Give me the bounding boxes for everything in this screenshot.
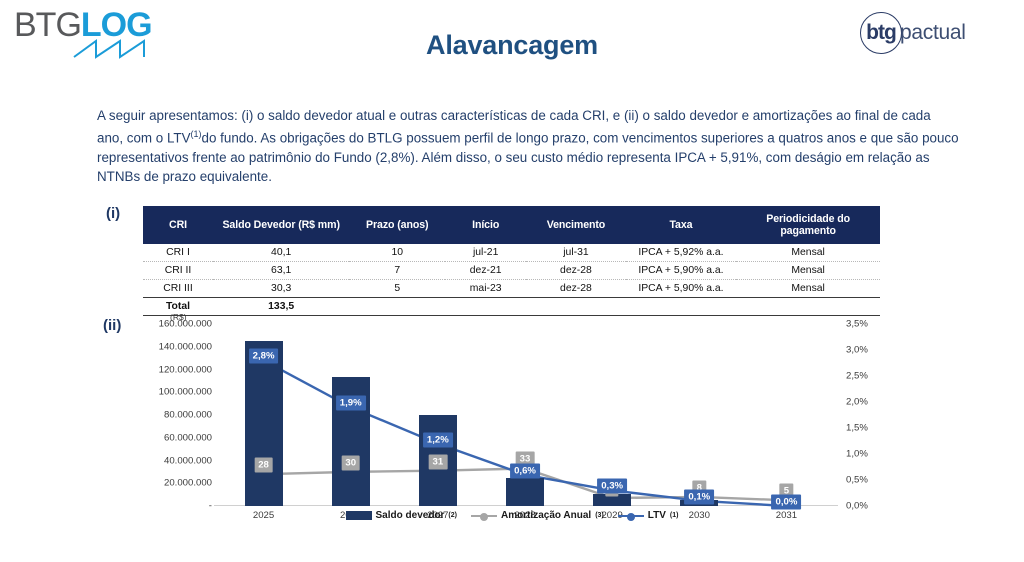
table-row: CRI III 30,3 5 mai-23 dez-28 IPCA + 5,90… <box>143 280 880 298</box>
y-axis-right-tick: 1,5% <box>846 423 868 434</box>
legend-label-ltv: LTV <box>648 510 666 521</box>
y-axis-left: -20.000.00040.000.00060.000.00080.000.00… <box>132 324 212 506</box>
legend-swatch-bar-icon <box>346 511 372 520</box>
cell-inicio: jul-21 <box>445 244 526 262</box>
intro-line-1: A seguir apresentamos: (i) o saldo deved… <box>97 108 879 123</box>
intro-footnote-ref-1: (1) <box>191 129 202 139</box>
col-header-saldo-devedor: Saldo Devedor (R$ mm) <box>213 206 349 244</box>
cell-saldo: 30,3 <box>213 280 349 298</box>
cell-vencimento: jul-31 <box>526 244 625 262</box>
ltv-data-label: 0,6% <box>510 463 540 478</box>
chart-legend: Saldo devedor(2) Amortização Anual(3) LT… <box>132 510 892 521</box>
chart-bar <box>506 478 544 506</box>
y-axis-left-tick: 120.000.000 <box>134 364 212 375</box>
col-header-vencimento: Vencimento <box>526 206 625 244</box>
cell-prazo: 10 <box>349 244 445 262</box>
table-row: CRI II 63,1 7 dez-21 dez-28 IPCA + 5,90%… <box>143 262 880 280</box>
amortizacao-data-label: 31 <box>429 454 448 469</box>
y-axis-right-tick: 3,0% <box>846 345 868 356</box>
page-title: Alavancagem <box>0 30 1024 61</box>
cell-periodicidade: Mensal <box>736 244 880 262</box>
col-header-prazo: Prazo (anos) <box>349 206 445 244</box>
y-axis-left-tick: 160.000.000 <box>134 319 212 330</box>
chart-plot-area: 2025202620272028202920302031283031337852… <box>220 324 830 506</box>
cell-taxa: IPCA + 5,90% a.a. <box>626 280 737 298</box>
table-header-row: CRI Saldo Devedor (R$ mm) Prazo (anos) I… <box>143 206 880 244</box>
cell-prazo: 5 <box>349 280 445 298</box>
amortizacao-data-label: 28 <box>254 458 273 473</box>
col-header-periodicidade: Periodicidade do pagamento <box>736 206 880 244</box>
cell-periodicidade: Mensal <box>736 280 880 298</box>
cri-table: CRI Saldo Devedor (R$ mm) Prazo (anos) I… <box>143 206 880 315</box>
y-axis-left-tick: 60.000.000 <box>134 432 212 443</box>
legend-swatch-line-ltv-icon <box>618 511 644 520</box>
y-axis-right-tick: 2,5% <box>846 371 868 382</box>
cri-table-wrapper: CRI Saldo Devedor (R$ mm) Prazo (anos) I… <box>143 206 880 316</box>
ltv-data-label: 1,2% <box>423 432 453 447</box>
amortizacao-data-label: 30 <box>341 455 360 470</box>
y-axis-right-tick: 0,5% <box>846 475 868 486</box>
legend-footnote-3: (3) <box>595 512 604 519</box>
legend-footnote-2: (2) <box>448 512 457 519</box>
y-axis-left-tick: 140.000.000 <box>134 341 212 352</box>
legend-footnote-1: (1) <box>670 512 679 519</box>
cell-saldo: 63,1 <box>213 262 349 280</box>
legend-item-amortizacao: Amortização Anual(3) <box>471 510 604 521</box>
y-axis-right: 0,0%0,5%1,0%1,5%2,0%2,5%3,0%3,5% <box>832 324 892 506</box>
cell-cri: CRI I <box>143 244 213 262</box>
cell-inicio: mai-23 <box>445 280 526 298</box>
cri-table-body: CRI I 40,1 10 jul-21 jul-31 IPCA + 5,92%… <box>143 244 880 315</box>
cell-cri: CRI II <box>143 262 213 280</box>
col-header-cri: CRI <box>143 206 213 244</box>
cri-table-head: CRI Saldo Devedor (R$ mm) Prazo (anos) I… <box>143 206 880 244</box>
cell-saldo: 40,1 <box>213 244 349 262</box>
y-axis-right-tick: 2,0% <box>846 397 868 408</box>
section-marker-i: (i) <box>106 205 120 222</box>
cell-vencimento: dez-28 <box>526 280 625 298</box>
cell-taxa: IPCA + 5,92% a.a. <box>626 244 737 262</box>
y-axis-left-tick: 20.000.000 <box>134 478 212 489</box>
ltv-data-label: 2,8% <box>249 349 279 364</box>
legend-label-amortizacao: Amortização Anual <box>501 510 591 521</box>
y-axis-left-tick: 80.000.000 <box>134 410 212 421</box>
legend-item-ltv: LTV(1) <box>618 510 679 521</box>
col-header-taxa: Taxa <box>626 206 737 244</box>
chart-bar <box>245 341 283 506</box>
cell-cri: CRI III <box>143 280 213 298</box>
section-marker-ii: (ii) <box>103 317 121 334</box>
cell-vencimento: dez-28 <box>526 262 625 280</box>
y-axis-right-tick: 3,5% <box>846 319 868 330</box>
intro-paragraph: A seguir apresentamos: (i) o saldo deved… <box>97 106 959 186</box>
table-row: CRI I 40,1 10 jul-21 jul-31 IPCA + 5,92%… <box>143 244 880 262</box>
ltv-data-label: 0,1% <box>684 489 714 504</box>
cell-taxa: IPCA + 5,90% a.a. <box>626 262 737 280</box>
ltv-data-label: 0,0% <box>771 495 801 510</box>
leverage-chart: (R$) -20.000.00040.000.00060.000.00080.0… <box>132 312 892 524</box>
cell-inicio: dez-21 <box>445 262 526 280</box>
cell-periodicidade: Mensal <box>736 262 880 280</box>
intro-line-2b: do fundo. As obrigações do BTLG possuem … <box>202 131 824 146</box>
y-axis-left-tick: 40.000.000 <box>134 455 212 466</box>
slide: BTGLOG btg pactual Alavancagem A seguir … <box>0 0 1024 562</box>
y-axis-left-tick: 100.000.000 <box>134 387 212 398</box>
ltv-data-label: 1,9% <box>336 396 366 411</box>
cell-prazo: 7 <box>349 262 445 280</box>
col-header-inicio: Início <box>445 206 526 244</box>
legend-swatch-line-amort-icon <box>471 511 497 520</box>
legend-label-saldo-devedor: Saldo devedor <box>376 510 445 521</box>
ltv-data-label: 0,3% <box>597 479 627 494</box>
legend-item-saldo-devedor: Saldo devedor(2) <box>346 510 457 521</box>
y-axis-right-tick: 1,0% <box>846 449 868 460</box>
